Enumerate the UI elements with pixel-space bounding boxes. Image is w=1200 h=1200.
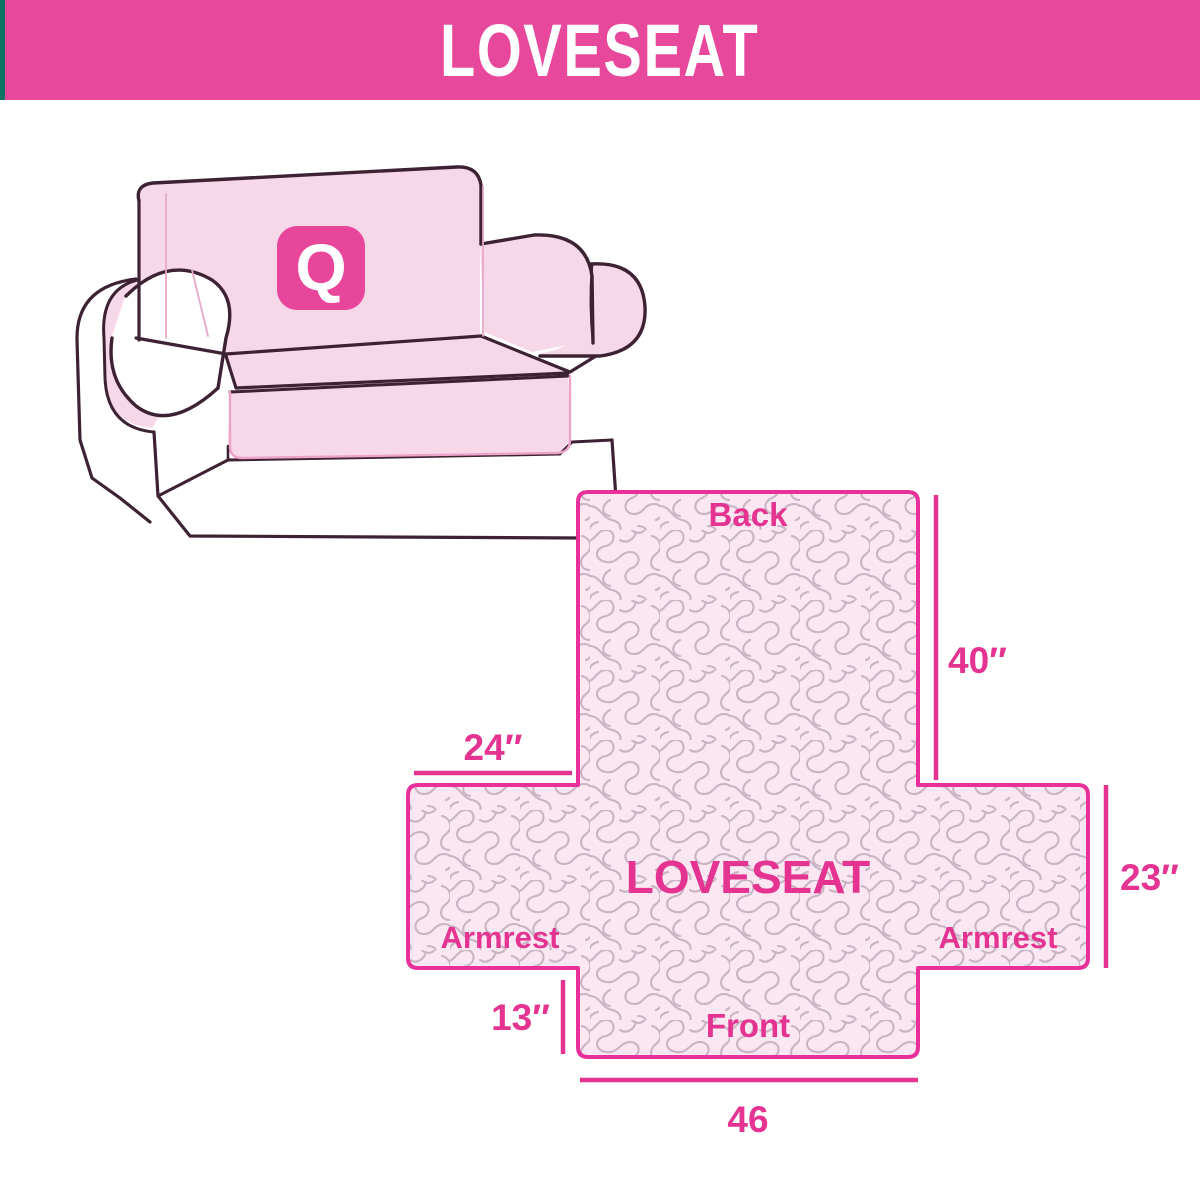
product-diagram-page: LOVESEAT (0, 0, 1200, 1200)
dimension-label-back-height: 40″ (948, 640, 1007, 681)
center-label-loveseat: LOVESEAT (626, 851, 871, 903)
panel-label-armrest-right: Armrest (939, 920, 1058, 955)
brand-logo: Q (277, 226, 365, 310)
page-title: LOVESEAT (440, 14, 759, 88)
dimension-label-front-width: 46 (727, 1099, 768, 1140)
flatlay-cover-diagram: Back LOVESEAT Armrest Armrest Front 40″ … (380, 460, 1180, 1140)
sofa-right-arm-fill (480, 236, 592, 352)
header-accent-strip (0, 0, 5, 100)
dimension-label-front-height: 13″ (491, 997, 550, 1038)
dimension-label-body-height: 23″ (1120, 857, 1179, 898)
header-banner: LOVESEAT (0, 0, 1200, 100)
dimension-label-armrest-width: 24″ (464, 727, 523, 768)
panel-label-armrest-left: Armrest (441, 920, 560, 955)
panel-label-back: Back (709, 496, 789, 533)
panel-label-front: Front (706, 1007, 790, 1044)
brand-logo-letter: Q (295, 230, 346, 304)
